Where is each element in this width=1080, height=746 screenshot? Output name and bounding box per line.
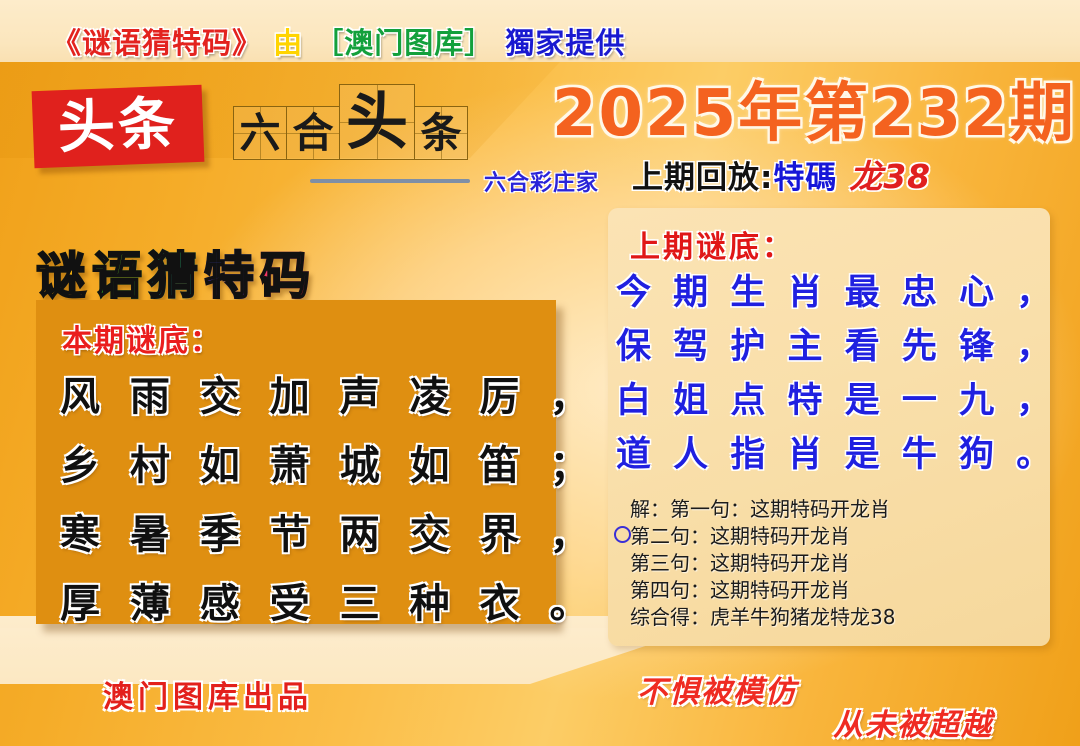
credit-part-exclusive: 獨家提供 [505, 26, 625, 60]
rainbow-char-4: 特 [204, 247, 260, 305]
rainbow-char-1: 谜 [36, 247, 92, 305]
current-riddle-box: 本期谜底： 风 雨 交 加 声 凌 厉 ， 乡 村 如 萧 城 如 笛 ； 寒 … [36, 300, 556, 624]
answer-line: 今 期 生 肖 最 忠 心 ， [616, 266, 1048, 320]
grid-cell-1: 六 [233, 106, 287, 160]
producer-brand: 澳门图库出品 [103, 672, 313, 716]
grid-title: 六 合 头 条 [233, 84, 467, 160]
riddle-line: 乡 村 如 萧 城 如 笛 ； [60, 431, 540, 500]
rainbow-title: 谜语猜特码 [36, 236, 316, 308]
answer-line: 保 驾 护 主 看 先 锋 ， [616, 320, 1048, 374]
grid-cell-4-char: 条 [421, 113, 462, 154]
rainbow-char-3: 猜 [148, 247, 204, 305]
note-line: 第四句：这期特码开龙肖 [630, 577, 1050, 604]
recap-special-value: 龙38 [849, 157, 931, 196]
headline-stamp-logo: 头条 [32, 85, 205, 168]
current-riddle-lines: 风 雨 交 加 声 凌 厉 ， 乡 村 如 萧 城 如 笛 ； 寒 暑 季 节 … [60, 362, 540, 638]
credit-part-title: 《谜语猜特码》 [52, 26, 262, 60]
poster-canvas: 《谜语猜特码》 由 ［澳门图库］ 獨家提供 头条 六 合 头 条 六合彩庄家 2… [0, 0, 1080, 746]
credit-part-by: 由 [273, 26, 303, 60]
note-line: 第二句：这期特码开龙肖 [630, 523, 1050, 550]
grid-cell-3: 头 [339, 84, 415, 160]
note-line-summary: 综合得：虎羊牛狗猪龙特龙38 [630, 604, 1050, 631]
grid-cell-4: 条 [414, 106, 468, 160]
grid-cell-2: 合 [286, 106, 340, 160]
previous-answer-lines: 今 期 生 肖 最 忠 心 ， 保 驾 护 主 看 先 锋 ， 白 姐 点 特 … [616, 266, 1048, 482]
grid-cell-3-char: 头 [346, 91, 408, 153]
riddle-line: 厚 薄 感 受 三 种 衣 。 [60, 569, 540, 638]
previous-answer-panel: 上期谜底： 今 期 生 肖 最 忠 心 ， 保 驾 护 主 看 先 锋 ， 白 … [608, 208, 1050, 646]
note-line: 解：第一句：这期特码开龙肖 [630, 496, 1050, 523]
explanation-notes: 解：第一句：这期特码开龙肖 第二句：这期特码开龙肖 第三句：这期特码开龙肖 第四… [630, 496, 1050, 631]
issue-title: 2025年第232期 [552, 62, 1076, 154]
grid-cell-2-char: 合 [293, 113, 334, 154]
slogan-never-surpassed: 从未被超越 [833, 700, 993, 744]
answer-line: 道 人 指 肖 是 牛 狗 。 [616, 428, 1048, 482]
recap-special-label: 特碼 [773, 160, 837, 196]
grid-cell-1-char: 六 [240, 113, 281, 154]
riddle-line: 寒 暑 季 节 两 交 界 ， [60, 500, 540, 569]
rainbow-char-5: 码 [260, 247, 316, 305]
credit-part-source: ［澳门图库］ [314, 26, 494, 60]
bullet-ring-icon [614, 526, 631, 543]
rainbow-char-2: 语 [92, 247, 148, 305]
recap-label: 上期回放: [632, 160, 773, 196]
slogan-not-afraid: 不惧被模仿 [637, 667, 797, 711]
subtitle-row: 六合彩庄家 [310, 165, 599, 197]
credit-line: 《谜语猜特码》 由 ［澳门图库］ 獨家提供 [52, 20, 625, 62]
current-riddle-heading: 本期谜底： [62, 316, 222, 360]
answer-line: 白 姐 点 特 是 一 九 ， [616, 374, 1048, 428]
riddle-line: 风 雨 交 加 声 凌 厉 ， [60, 362, 540, 431]
subtitle-label: 六合彩庄家 [484, 165, 599, 197]
previous-answer-heading: 上期谜底： [630, 222, 795, 266]
subtitle-rule [310, 179, 470, 183]
recap-line: 上期回放:特碼 龙38 [632, 150, 931, 198]
headline-stamp-label: 头条 [57, 96, 179, 158]
note-line: 第三句：这期特码开龙肖 [630, 550, 1050, 577]
